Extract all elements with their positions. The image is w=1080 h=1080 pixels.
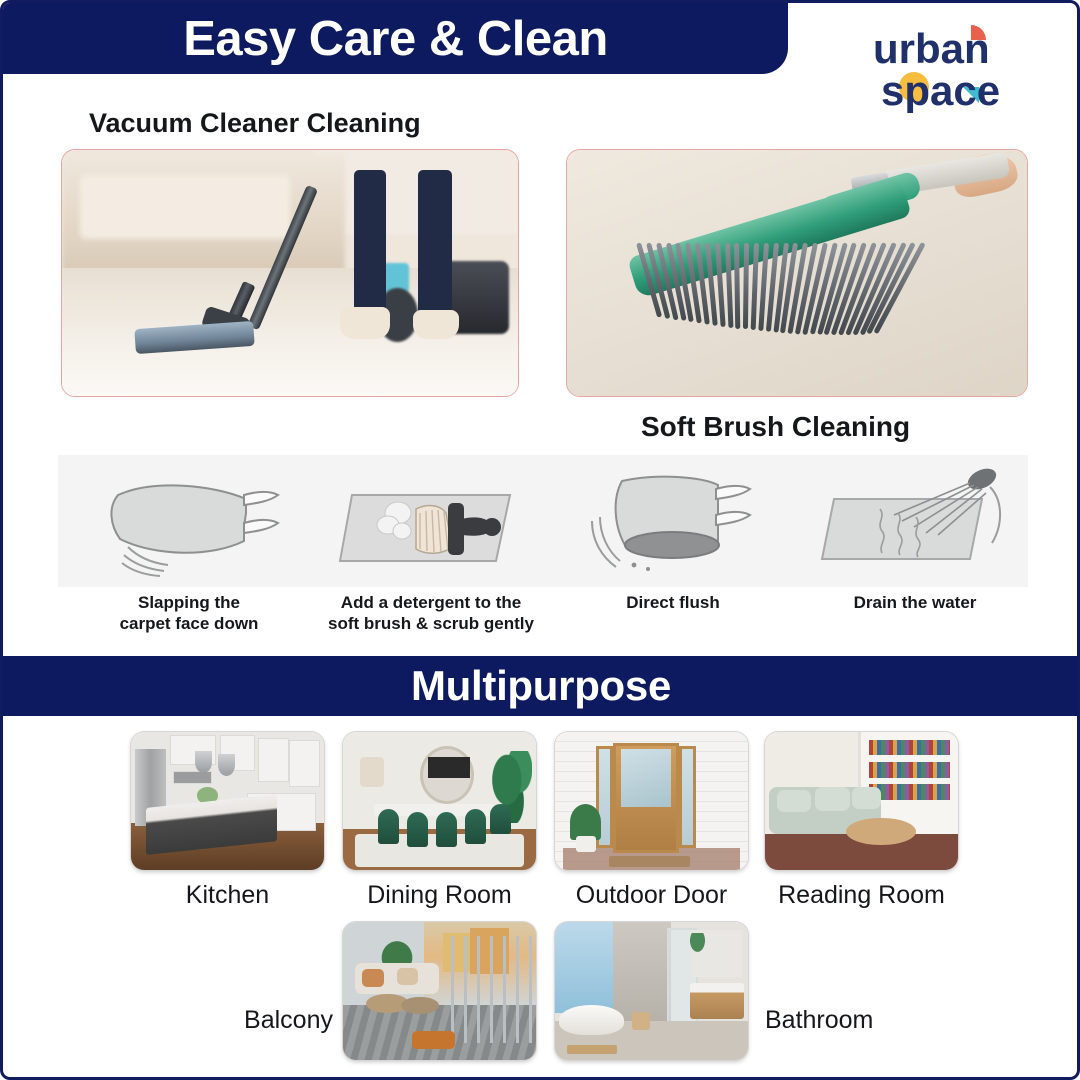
care-step-drain-water: Drain the water — [794, 455, 1036, 645]
care-step-label: Drain the water — [794, 593, 1036, 614]
direct-flush-icon — [552, 455, 794, 587]
soft-brush-photo — [566, 149, 1028, 397]
vacuum-cleaning-photo — [61, 149, 519, 397]
brush-bristles — [636, 243, 921, 341]
room-label-outdoor-door: Outdoor Door — [555, 881, 748, 910]
room-thumb-dining-room[interactable] — [343, 732, 536, 870]
svg-text:space: space — [881, 67, 1000, 113]
room-thumb-bathroom[interactable] — [555, 922, 748, 1060]
care-steps-row: Slapping thecarpet face down — [58, 455, 1028, 645]
room-thumb-reading-room[interactable] — [765, 732, 958, 870]
shower-drain-icon — [794, 455, 1036, 587]
care-step-slapping: Slapping thecarpet face down — [68, 455, 310, 645]
page-title: Easy Care & Clean — [183, 11, 608, 67]
vacuum-section-title: Vacuum Cleaner Cleaning — [89, 108, 421, 139]
detergent-brush-icon — [310, 455, 552, 587]
room-label-kitchen: Kitchen — [131, 881, 324, 910]
urban-space-logo: urban space — [867, 21, 1035, 113]
header-banner: Easy Care & Clean — [0, 0, 788, 74]
room-label-bathroom: Bathroom — [765, 1006, 873, 1035]
care-step-detergent: Add a detergent to thesoft brush & scrub… — [310, 455, 552, 645]
care-step-label: Slapping thecarpet face down — [68, 593, 310, 634]
room-label-balcony: Balcony — [183, 1006, 333, 1035]
care-step-direct-flush: Direct flush — [552, 455, 794, 645]
multipurpose-banner: Multipurpose — [0, 656, 1080, 716]
svg-text:urban: urban — [873, 25, 990, 72]
room-thumb-kitchen[interactable] — [131, 732, 324, 870]
room-label-reading-room: Reading Room — [765, 881, 958, 910]
room-thumb-outdoor-door[interactable] — [555, 732, 748, 870]
carpet-slap-icon — [68, 455, 310, 587]
logo-mark: urban space — [867, 21, 1035, 113]
room-thumb-balcony[interactable] — [343, 922, 536, 1060]
care-step-label: Direct flush — [552, 593, 794, 614]
multipurpose-title: Multipurpose — [411, 662, 671, 710]
infographic-page: Easy Care & Clean urban space Vacuum Cle… — [0, 0, 1080, 1080]
brush-section-title: Soft Brush Cleaning — [641, 411, 910, 443]
care-step-label: Add a detergent to thesoft brush & scrub… — [310, 593, 552, 634]
room-label-dining-room: Dining Room — [343, 881, 536, 910]
